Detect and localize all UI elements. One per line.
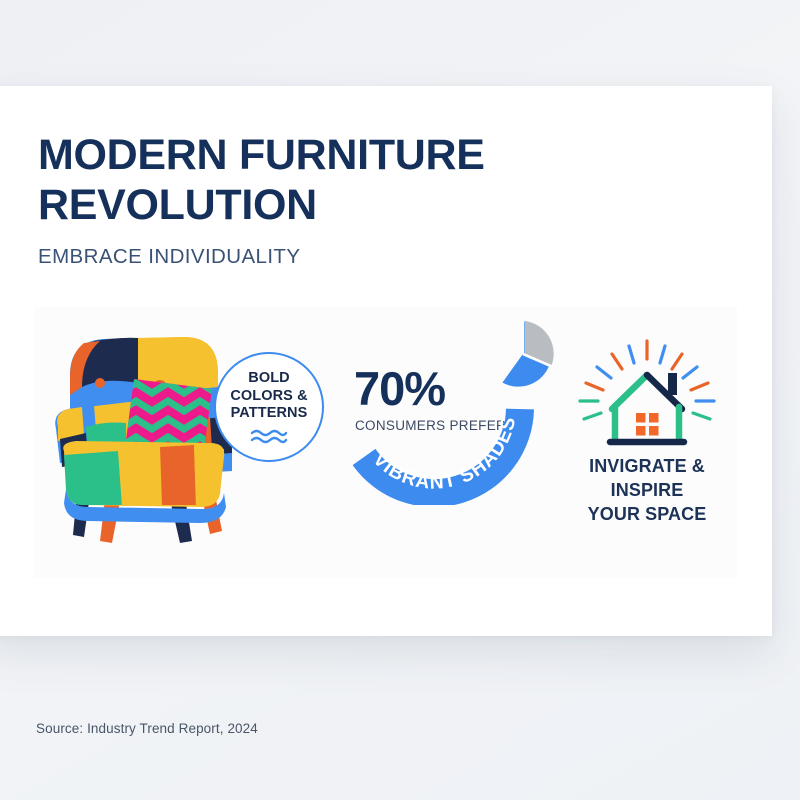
house-caption: INVIGRATE & INSPIRE YOUR SPACE bbox=[554, 455, 740, 526]
badge-line-1: BOLD bbox=[248, 370, 289, 388]
house-caption-line-3: YOUR SPACE bbox=[554, 503, 740, 527]
pie-chart-icon bbox=[486, 317, 560, 391]
wave-lines-icon bbox=[249, 428, 289, 444]
slide-stage: MODERN FURNITURE REVOLUTION EMBRACE INDI… bbox=[0, 0, 800, 800]
bold-colors-badge[interactable]: BOLD COLORS & PATTERNS bbox=[214, 352, 324, 462]
vibrant-shades-ribbon: VIBRANT SHADES bbox=[348, 393, 554, 505]
infographic-panel: BOLD COLORS & PATTERNS bbox=[34, 307, 737, 578]
page-subtitle: EMBRACE INDIVIDUALITY bbox=[38, 245, 678, 269]
house-caption-line-1: INVIGRATE & bbox=[554, 455, 740, 479]
page-title: MODERN FURNITURE REVOLUTION bbox=[38, 130, 538, 231]
headline-block: MODERN FURNITURE REVOLUTION EMBRACE INDI… bbox=[38, 130, 678, 269]
house-column: INVIGRATE & INSPIRE YOUR SPACE bbox=[554, 337, 740, 555]
badge-line-3: PATTERNS bbox=[231, 405, 308, 423]
statistic-group: 70% CONSUMERS PREFER VIBRANT SHADES bbox=[352, 315, 582, 565]
statistic-column: 70% CONSUMERS PREFER VIBRANT SHADES bbox=[352, 315, 582, 565]
badge-line-2: COLORS & bbox=[230, 388, 307, 406]
chair-column bbox=[42, 331, 238, 545]
slide-card: MODERN FURNITURE REVOLUTION EMBRACE INDI… bbox=[0, 86, 772, 636]
house-caption-line-2: INSPIRE bbox=[554, 479, 740, 503]
source-note: Source: Industry Trend Report, 2024 bbox=[36, 721, 258, 736]
shining-house-icon bbox=[572, 337, 722, 459]
patchwork-armchair-illustration bbox=[42, 331, 238, 545]
